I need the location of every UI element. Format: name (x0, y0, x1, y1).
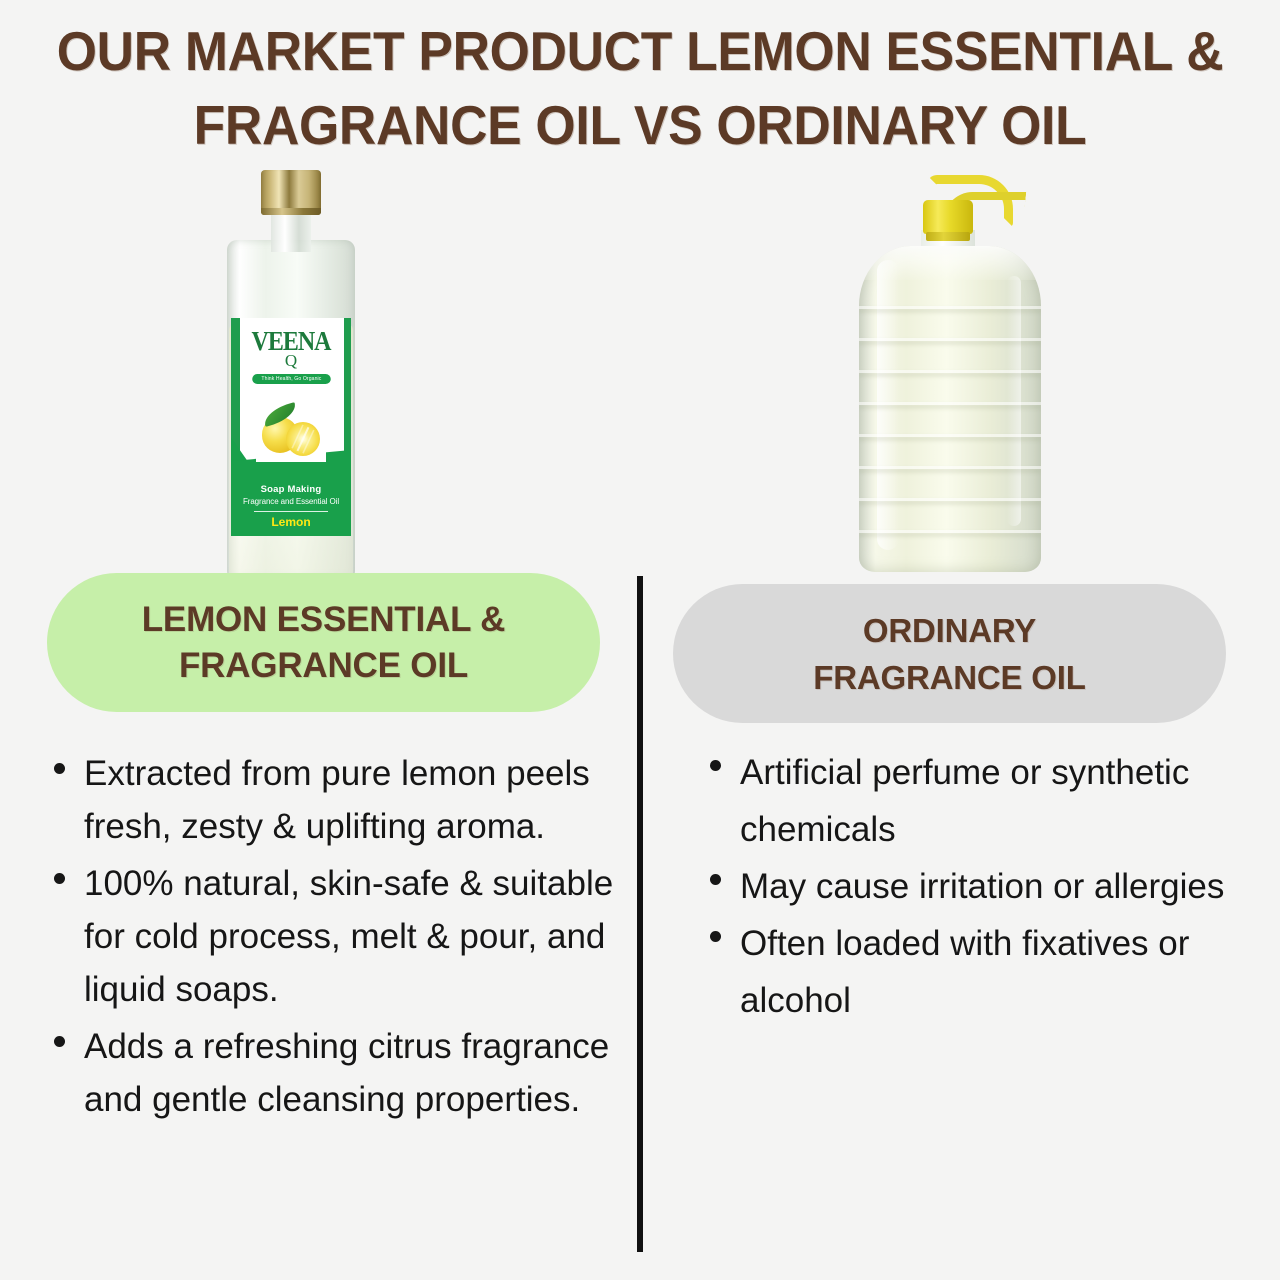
jerrycan-rib (859, 466, 1041, 469)
right-column-header-line-2: FRAGRANCE OIL (813, 654, 1085, 701)
right-column-drawbacks: Artificial perfume or synthetic chemical… (694, 744, 1234, 1029)
bullet-icon (710, 874, 721, 885)
bullet-icon (54, 1036, 65, 1047)
label-line-2: Fragrance and Essential Oil (240, 496, 342, 507)
bullet-icon (710, 760, 721, 771)
jerrycan-rib (859, 498, 1041, 501)
label-line-1: Soap Making (240, 484, 342, 496)
bullet-icon (54, 873, 65, 884)
jerrycan-cap-icon (923, 200, 973, 234)
bullet-icon (710, 931, 721, 942)
ordinary-fragrance-oil-jerrycan-image (855, 172, 1045, 572)
list-item: 100% natural, skin-safe & suitable for c… (38, 857, 630, 1016)
jerrycan-rib (859, 434, 1041, 437)
list-item: Often loaded with fixatives or alcohol (694, 915, 1234, 1029)
right-column-header: ORDINARY FRAGRANCE OIL (673, 584, 1226, 723)
brand-name: VEENA (251, 328, 330, 356)
jerrycan-rib (859, 402, 1041, 405)
jerrycan-rib (859, 338, 1041, 341)
list-item-label: Adds a refreshing citrus fragrance and g… (84, 1020, 630, 1126)
label-text-block: Soap Making Fragrance and Essential Oil … (240, 484, 342, 530)
product-image-row: VEENA Q Think Health, Go Organic Soap Ma… (0, 160, 1280, 580)
bottle-neck (271, 212, 311, 252)
list-item: Extracted from pure lemon peels fresh, z… (38, 747, 630, 853)
page-title: OUR MARKET PRODUCT LEMON ESSENTIAL & FRA… (0, 14, 1280, 162)
lemon-half-icon (286, 422, 320, 456)
page-title-line-2: FRAGRANCE OIL VS ORDINARY OIL (38, 88, 1241, 162)
list-item: Adds a refreshing citrus fragrance and g… (38, 1020, 630, 1126)
label-rule (254, 511, 328, 512)
jerrycan-rib (859, 530, 1041, 533)
lemon-essential-oil-bottle-image: VEENA Q Think Health, Go Organic Soap Ma… (227, 170, 355, 578)
list-item-label: May cause irritation or allergies (740, 858, 1234, 915)
left-column-header-line-2: FRAGRANCE OIL (142, 643, 506, 689)
bottle-cap-icon (261, 170, 321, 215)
label-variant: Lemon (240, 515, 342, 530)
jerrycan-highlight-left (877, 260, 899, 550)
jerrycan-rib (859, 370, 1041, 373)
list-item: May cause irritation or allergies (694, 858, 1234, 915)
bottle-label: VEENA Q Think Health, Go Organic Soap Ma… (231, 318, 351, 536)
comparison-poster: OUR MARKET PRODUCT LEMON ESSENTIAL & FRA… (0, 0, 1280, 1280)
brand-tagline: Think Health, Go Organic (252, 374, 330, 384)
list-item-label: Extracted from pure lemon peels fresh, z… (84, 747, 630, 853)
jerrycan-highlight-right (1007, 276, 1021, 526)
left-column-header: LEMON ESSENTIAL & FRAGRANCE OIL (47, 573, 600, 712)
list-item: Artificial perfume or synthetic chemical… (694, 744, 1234, 858)
page-title-line-1: OUR MARKET PRODUCT LEMON ESSENTIAL & (38, 14, 1241, 88)
column-divider (637, 576, 643, 1252)
jerrycan-rib (859, 306, 1041, 309)
left-column-header-line-1: LEMON ESSENTIAL & (142, 597, 506, 643)
list-item-label: Often loaded with fixatives or alcohol (740, 915, 1234, 1029)
list-item-label: Artificial perfume or synthetic chemical… (740, 744, 1234, 858)
bullet-icon (54, 763, 65, 774)
jerrycan-body (859, 246, 1041, 572)
left-column-benefits: Extracted from pure lemon peels fresh, z… (38, 747, 630, 1130)
right-column-header-line-1: ORDINARY (813, 607, 1085, 654)
brand-logo: VEENA Q Think Health, Go Organic (231, 330, 351, 385)
list-item-label: 100% natural, skin-safe & suitable for c… (84, 857, 630, 1016)
lemon-photo (256, 400, 326, 462)
